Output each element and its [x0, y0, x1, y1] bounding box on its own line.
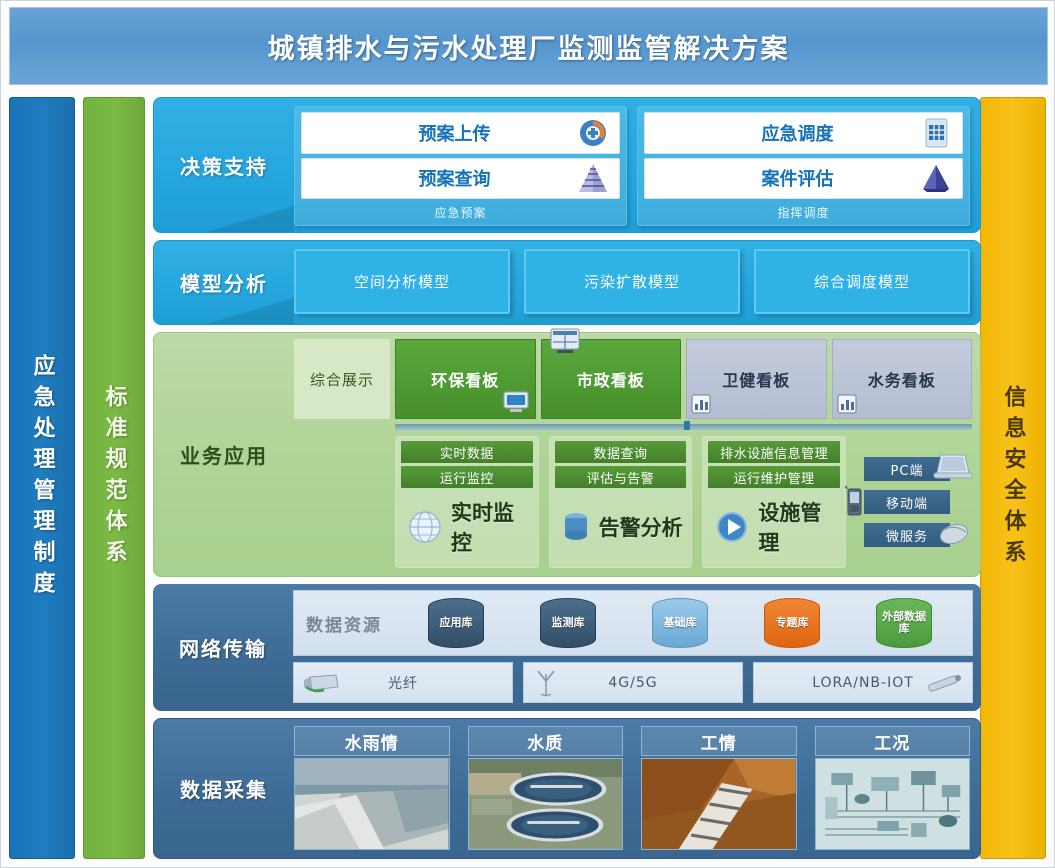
board-water-affairs[interactable]: 水务看板	[832, 339, 973, 419]
network-link-cellular[interactable]: 4G/5G	[523, 662, 743, 703]
network-link-fiber-label: 光纤	[388, 673, 418, 693]
layer-stack: 决策支持 预案上传	[153, 97, 981, 859]
fiber-cable-icon	[302, 671, 342, 695]
decision-item-plan-upload-label: 预案上传	[302, 120, 573, 146]
solid-pyramid-icon	[916, 161, 956, 195]
database-external[interactable]: 外部数据库	[876, 598, 932, 648]
database-basic[interactable]: 基础库	[652, 598, 708, 648]
sidebar-label-emergency-management: 应急处理管理制度	[30, 354, 53, 602]
database-thematic[interactable]: 专题库	[764, 598, 820, 648]
monitor-icon	[501, 389, 531, 415]
layer-business-application: 业务应用 综合展示 环保看板	[153, 332, 981, 577]
window-icon	[548, 326, 582, 356]
decision-item-plan-query[interactable]: 预案查询	[301, 158, 620, 200]
sidebar-label-information-security: 信息安全体系	[1001, 385, 1024, 571]
database-thematic-label: 专题库	[774, 617, 811, 629]
chip-data-query[interactable]: 数据查询	[555, 441, 687, 463]
board-health-label: 卫健看板	[722, 367, 790, 391]
terminal-badge-pc-label: PC端	[891, 460, 924, 479]
database-application-label: 应用库	[438, 617, 475, 629]
layer-model-analysis: 模型分析 空间分析模型 污染扩散模型 综合调度模型	[153, 240, 981, 325]
terminal-badge-microservice-label: 微服务	[886, 526, 928, 545]
sedimentation-tank-photo	[468, 758, 624, 850]
page-title: 城镇排水与污水处理厂监测监管解决方案	[268, 27, 790, 66]
data-item-working-condition[interactable]: 工况	[815, 726, 971, 850]
laptop-icon	[932, 451, 972, 483]
layer-title-business-application: 业务应用	[180, 440, 268, 469]
data-resource-label: 数据资源	[306, 611, 382, 636]
layer-label-decision-support: 决策支持	[154, 98, 294, 232]
layer-title-data-acquisition: 数据采集	[180, 774, 268, 803]
layer-title-network-transmission: 网络传输	[179, 633, 267, 662]
decision-item-emergency-dispatch[interactable]: 应急调度	[644, 112, 963, 154]
phone-icon	[844, 486, 864, 518]
business-app-facility-management[interactable]: 设施管理	[708, 491, 840, 563]
data-item-water-quality-label: 水质	[468, 726, 624, 756]
layer-title-decision-support: 决策支持	[180, 151, 268, 180]
model-item-pollution-diffusion[interactable]: 污染扩散模型	[524, 249, 740, 314]
layer-label-business-application: 业务应用	[154, 333, 294, 576]
database-icon	[559, 507, 593, 547]
business-app-realtime-monitoring-label: 实时监控	[451, 497, 533, 557]
decision-group-emergency-plan: 预案上传 预案查询	[294, 106, 627, 226]
business-column-facility-management: 排水设施信息管理 运行维护管理 设施管理	[702, 436, 846, 568]
river-channel-photo	[294, 758, 450, 850]
layer-label-network-transmission: 网络传输	[153, 584, 293, 711]
network-link-lora[interactable]: LORA/NB-IOT	[753, 662, 973, 703]
layer-label-data-acquisition: 数据采集	[154, 719, 294, 858]
decision-group-caption-emergency-plan: 应急预案	[301, 203, 620, 223]
play-icon	[712, 507, 752, 547]
chart-small-icon	[836, 393, 858, 415]
network-link-row: 光纤 4G/5G LORA/NB-IOT	[293, 662, 973, 703]
business-app-alarm-analysis-label: 告警分析	[599, 512, 683, 542]
data-item-engineering-label: 工情	[641, 726, 797, 756]
database-monitoring-label: 监测库	[550, 617, 587, 629]
board-environment-label: 环保看板	[431, 367, 499, 391]
database-application[interactable]: 应用库	[428, 598, 484, 648]
layer-label-model-analysis: 模型分析	[154, 241, 294, 324]
data-item-working-condition-label: 工况	[815, 726, 971, 756]
grid-table-icon	[916, 116, 956, 150]
decision-item-emergency-dispatch-label: 应急调度	[645, 120, 916, 146]
chip-drainage-facility-info[interactable]: 排水设施信息管理	[708, 441, 840, 463]
antenna-icon	[532, 668, 560, 698]
section-divider	[395, 424, 972, 430]
board-water-affairs-label: 水务看板	[868, 367, 936, 391]
terminal-badge-pc[interactable]: PC端	[864, 457, 950, 481]
decision-group-caption-command-dispatch: 指挥调度	[644, 203, 963, 223]
layer-decision-support: 决策支持 预案上传	[153, 97, 981, 233]
business-app-alarm-analysis[interactable]: 告警分析	[555, 491, 687, 563]
model-item-integrated-dispatch[interactable]: 综合调度模型	[754, 249, 970, 314]
chip-operation-monitoring[interactable]: 运行监控	[401, 466, 533, 488]
chip-operation-maintenance[interactable]: 运行维护管理	[708, 466, 840, 488]
sidebar-item-emergency-management[interactable]: 应急处理管理制度	[9, 97, 75, 859]
network-link-lora-label: LORA/NB-IOT	[812, 675, 914, 691]
chart-small-icon	[690, 393, 712, 415]
comprehensive-display-row: 综合展示 环保看板 市政看板	[294, 339, 972, 419]
sidebar-item-information-security[interactable]: 信息安全体系	[980, 97, 1046, 859]
scada-diagram-photo	[815, 758, 971, 850]
data-item-hydrology-label: 水雨情	[294, 726, 450, 756]
board-municipal-label: 市政看板	[577, 367, 645, 391]
decision-item-case-assessment-label: 案件评估	[645, 165, 916, 191]
decision-item-plan-upload[interactable]: 预案上传	[301, 112, 620, 154]
comprehensive-display-label: 综合展示	[294, 339, 390, 419]
divider-marker	[684, 421, 690, 430]
model-item-spatial-analysis[interactable]: 空间分析模型	[294, 249, 510, 314]
board-municipal[interactable]: 市政看板	[541, 339, 682, 419]
sidebar-item-standards-system[interactable]: 标准规范体系	[83, 97, 145, 859]
business-app-realtime-monitoring[interactable]: 实时监控	[401, 491, 533, 563]
database-basic-label: 基础库	[662, 617, 699, 629]
globe-icon	[405, 507, 445, 547]
data-item-water-quality[interactable]: 水质	[468, 726, 624, 850]
network-link-fiber[interactable]: 光纤	[293, 662, 513, 703]
sensor-icon	[924, 671, 966, 695]
terminal-badge-group: PC端 移动端	[856, 436, 972, 568]
data-item-hydrology[interactable]: 水雨情	[294, 726, 450, 850]
striped-pyramid-icon	[573, 161, 613, 195]
decision-item-plan-query-label: 预案查询	[302, 165, 573, 191]
sidebar-label-standards-system: 标准规范体系	[102, 385, 125, 571]
page-title-banner: 城镇排水与污水处理厂监测监管解决方案	[9, 7, 1048, 85]
layer-data-acquisition: 数据采集 水雨情	[153, 718, 981, 859]
decision-item-case-assessment[interactable]: 案件评估	[644, 158, 963, 200]
decision-group-command-dispatch: 应急调度	[637, 106, 970, 226]
data-resource-row: 数据资源 应用库 监测库 基础库	[293, 590, 973, 656]
chip-realtime-data[interactable]: 实时数据	[401, 441, 533, 463]
board-health[interactable]: 卫健看板	[686, 339, 827, 419]
network-link-cellular-label: 4G/5G	[608, 675, 657, 691]
refresh-circle-icon	[573, 116, 613, 150]
layer-title-model-analysis: 模型分析	[180, 268, 268, 297]
diagram-page: 城镇排水与污水处理厂监测监管解决方案 应急处理管理制度 标准规范体系 信息安全体…	[0, 0, 1055, 868]
database-external-label: 外部数据库	[876, 611, 932, 635]
arrow-shape	[206, 206, 294, 232]
terminal-badge-mobile[interactable]: 移动端	[864, 490, 950, 514]
mouse-icon	[936, 517, 972, 547]
database-monitoring[interactable]: 监测库	[540, 598, 596, 648]
business-app-facility-management-label: 设施管理	[758, 497, 840, 557]
pipeline-trench-photo	[641, 758, 797, 850]
chip-assessment-alarm[interactable]: 评估与告警	[555, 466, 687, 488]
layer-network-transmission: 网络传输 数据资源 应用库 监测库	[153, 584, 981, 711]
arrow-shape	[206, 298, 294, 324]
business-column-realtime-monitoring: 实时数据 运行监控	[395, 436, 539, 568]
board-environment[interactable]: 环保看板	[395, 339, 536, 419]
terminal-badge-mobile-label: 移动端	[886, 493, 928, 512]
business-column-alarm-analysis: 数据查询 评估与告警 告警分析	[549, 436, 693, 568]
terminal-badge-microservice[interactable]: 微服务	[864, 523, 950, 547]
data-item-engineering[interactable]: 工情	[641, 726, 797, 850]
